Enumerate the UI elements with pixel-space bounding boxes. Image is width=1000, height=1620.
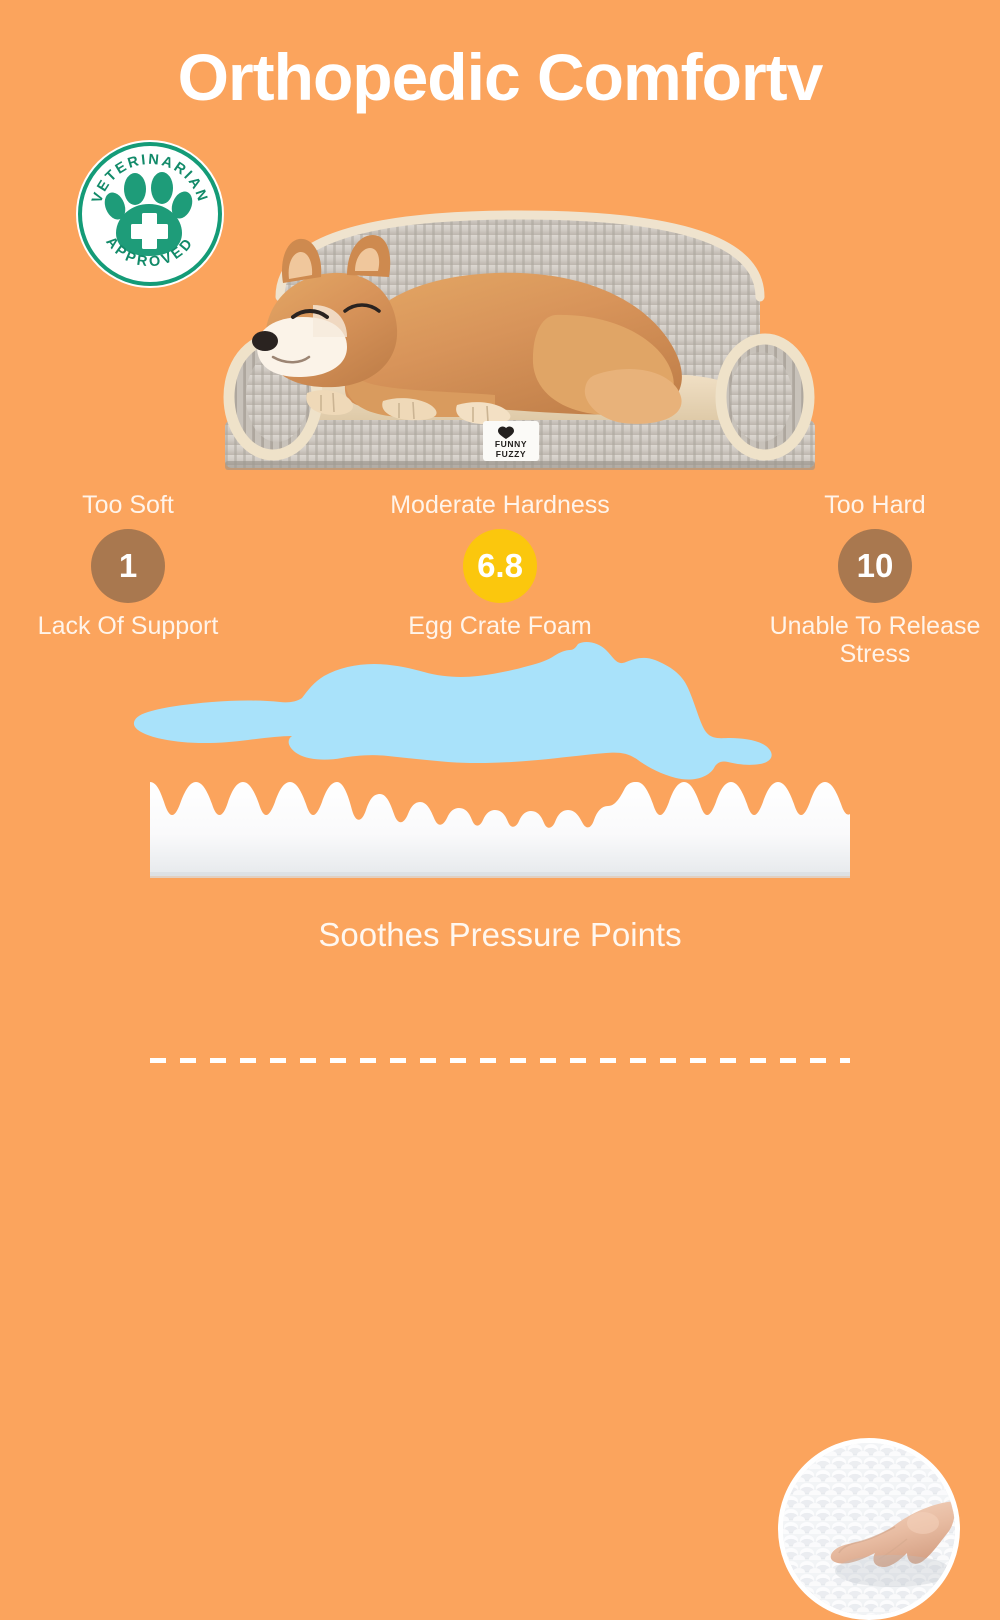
- footer-caption: Soothes Pressure Points: [0, 916, 1000, 954]
- bed-bolster-right: [721, 339, 809, 455]
- scale-node-too-soft[interactable]: Too Soft 1 Lack Of Support: [8, 492, 248, 640]
- pressure-relief-illustration: [0, 640, 1000, 890]
- dog-on-orthopedic-bed-photo: FUNNY FUZZY: [195, 165, 845, 475]
- scale-label-bottom: Lack Of Support: [8, 612, 248, 641]
- scale-value: 1: [119, 547, 137, 585]
- foam-closeup-svg: [783, 1443, 955, 1615]
- brand-tag: FUNNY FUZZY: [483, 421, 539, 461]
- scale-value-circle[interactable]: 6.8: [463, 529, 537, 603]
- brand-tag-line2: FUZZY: [496, 449, 526, 459]
- hardness-scale: Too Soft 1 Lack Of Support Moderate Hard…: [0, 492, 1000, 662]
- scale-label-top: Too Soft: [8, 492, 248, 520]
- scale-value: 10: [857, 547, 894, 585]
- scale-dashed-line: [150, 1058, 850, 1063]
- scale-label-bottom: Egg Crate Foam: [380, 612, 620, 641]
- foam-closeup-photo: [778, 1438, 960, 1620]
- scale-value-circle[interactable]: 10: [838, 529, 912, 603]
- dog-silhouette: [130, 640, 830, 815]
- hero-illustration: FUNNY FUZZY: [195, 165, 845, 475]
- scale-label-top: Too Hard: [750, 492, 1000, 520]
- brand-tag-line1: FUNNY: [495, 439, 527, 449]
- page-title: Orthopedic Comfortv: [0, 44, 1000, 110]
- scale-label-top: Moderate Hardness: [380, 492, 620, 520]
- infographic-page: Orthopedic Comfortv VE: [0, 0, 1000, 1000]
- scale-node-moderate[interactable]: Moderate Hardness 6.8 Egg Crate Foam: [380, 492, 620, 640]
- scale-value: 6.8: [477, 547, 523, 585]
- scale-value-circle[interactable]: 1: [91, 529, 165, 603]
